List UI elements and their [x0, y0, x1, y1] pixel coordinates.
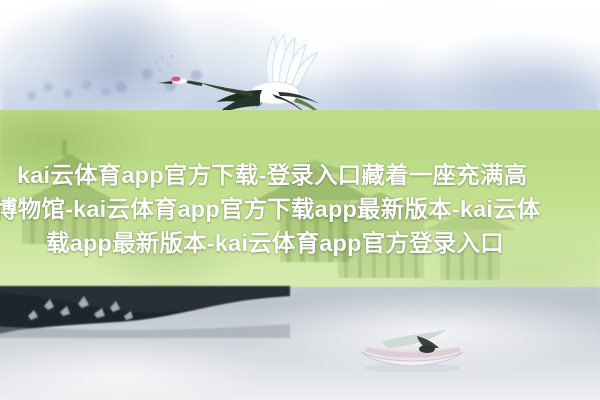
boat-icon — [355, 330, 470, 372]
crane-icon — [150, 28, 325, 120]
crane-crest — [172, 77, 181, 82]
pagoda-icon — [320, 186, 520, 286]
rocky-shore — [0, 286, 290, 338]
pagoda-icon — [10, 132, 130, 252]
banner-image: kai云体育app官方下载-登录入口藏着一座充满高 博物馆-kai云体育app官… — [0, 0, 600, 400]
